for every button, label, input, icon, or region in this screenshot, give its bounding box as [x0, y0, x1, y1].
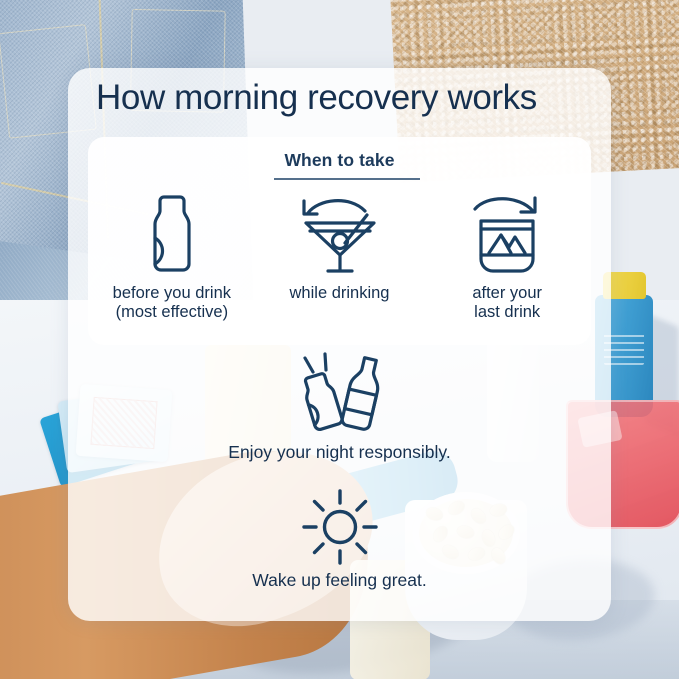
night-step-caption: Enjoy your night responsibly. [68, 442, 611, 463]
section-label: When to take [68, 150, 611, 171]
recovery-bottle-icon [142, 193, 202, 275]
screenshot-root: How morning recovery works When to take … [0, 0, 679, 679]
rocks-glass-ice-icon [467, 193, 547, 275]
step-while-drinking: while drinking [256, 193, 424, 323]
step-caption: while drinking [290, 284, 390, 303]
section-underline [274, 178, 420, 180]
step-before-you-drink: before you drink (most effective) [88, 193, 256, 323]
page-title: How morning recovery works [96, 78, 596, 118]
step-caption: after your last drink [472, 284, 542, 323]
card-content: How morning recovery works When to take … [0, 0, 679, 679]
martini-glass-icon [297, 193, 383, 275]
clinking-bottles-icon [68, 352, 611, 440]
night-step: Enjoy your night responsibly. [68, 352, 611, 463]
step-caption: before you drink (most effective) [113, 284, 231, 323]
morning-step: Wake up feeling great. [68, 488, 611, 591]
when-to-take-steps: before you drink (most effective) [88, 193, 591, 323]
step-after-last-drink: after your last drink [423, 193, 591, 323]
sun-icon [68, 488, 611, 566]
morning-step-caption: Wake up feeling great. [68, 570, 611, 591]
